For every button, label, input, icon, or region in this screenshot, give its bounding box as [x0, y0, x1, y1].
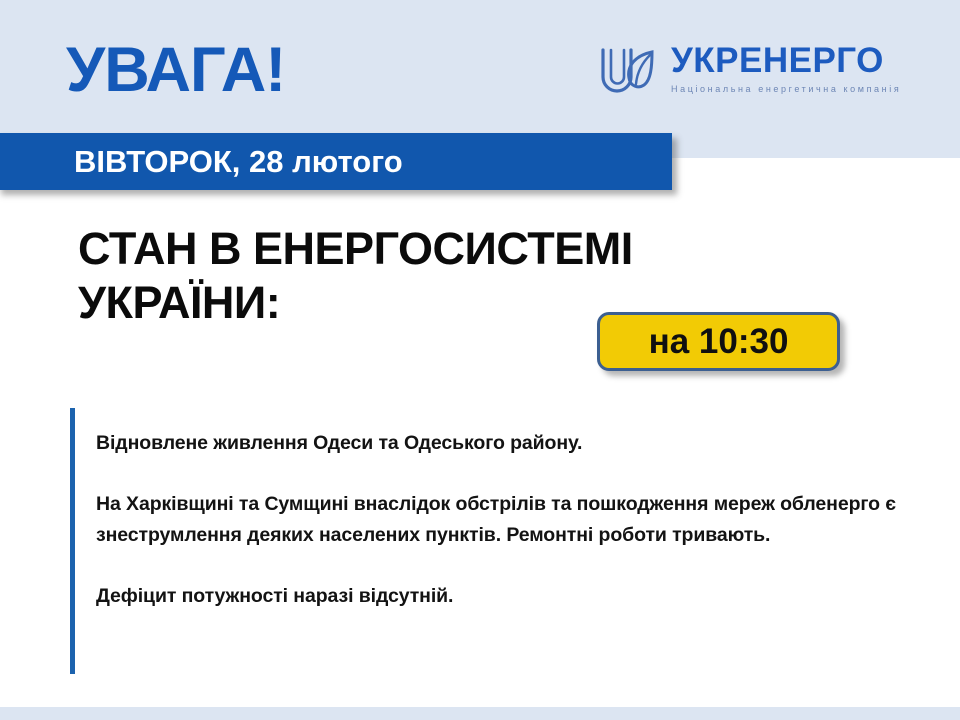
- ukrenergo-logo: УКРЕНЕРГО Національна енергетична компан…: [597, 40, 917, 110]
- status-card: УВАГА! УКРЕНЕРГО Національна енергетична…: [0, 0, 960, 720]
- footer-band: [0, 707, 960, 720]
- time-badge: на 10:30: [597, 312, 840, 371]
- time-badge-text: на 10:30: [649, 323, 789, 361]
- attention-heading: УВАГА!: [66, 36, 285, 104]
- status-paragraph: Дефіцит потужності наразі відсутній.: [96, 581, 900, 612]
- status-body: Відновлене живлення Одеси та Одеського р…: [70, 408, 900, 674]
- date-banner: ВІВТОРОК, 28 лютого: [0, 133, 672, 190]
- status-paragraph: Відновлене живлення Одеси та Одеського р…: [96, 428, 900, 459]
- paragraph-list: Відновлене живлення Одеси та Одеського р…: [75, 408, 900, 612]
- logo-wordmark: УКРЕНЕРГО: [671, 41, 884, 80]
- date-banner-text: ВІВТОРОК, 28 лютого: [74, 145, 403, 179]
- ukrenergo-u-leaf-mark-icon: [597, 44, 661, 100]
- logo-tagline: Національна енергетична компанія: [671, 84, 901, 94]
- status-paragraph: На Харківщині та Сумщині внаслідок обстр…: [96, 489, 900, 551]
- logo-text: УКРЕНЕРГО Національна енергетична компан…: [671, 40, 917, 97]
